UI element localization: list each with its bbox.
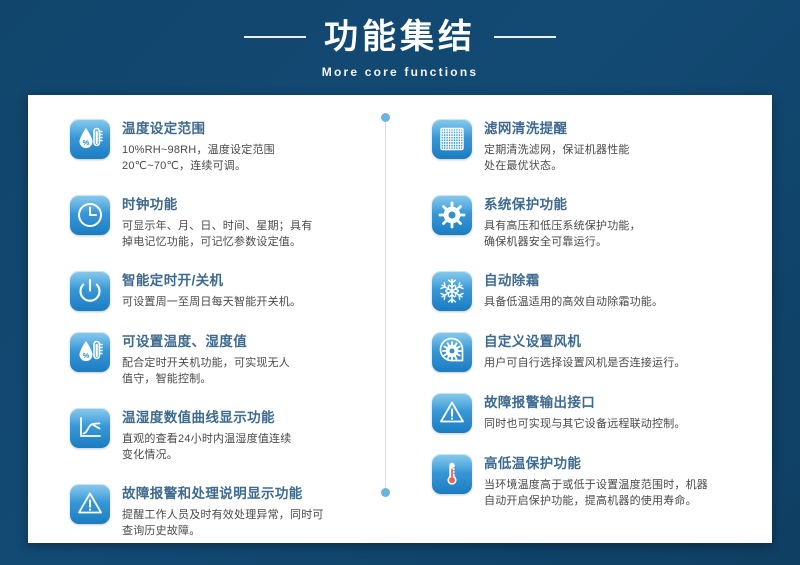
- page-header: 功能集结 More core functions: [0, 0, 800, 95]
- feature-description: 可设置周一至周日每天智能开关机。: [122, 294, 382, 310]
- feature-item: 自动除霜具备低温适用的高效自动除霜功能。: [432, 271, 760, 311]
- features-card: %温度设定范围10%RH~98RH，温度设定范围20℃~70℃，连续可调。时钟功…: [28, 95, 772, 543]
- feature-title: 故障报警和处理说明显示功能: [122, 485, 382, 503]
- feature-description: 当环境温度高于或低于设置温度范围时，机器自动开启保护功能，提高机器的使用寿命。: [484, 477, 760, 509]
- thermometer-icon: [432, 454, 472, 494]
- title-rule-right: [494, 36, 556, 38]
- gear-icon: [432, 195, 472, 235]
- title-rule-left: [244, 36, 306, 38]
- warning-triangle-icon: [70, 484, 110, 524]
- power-icon: [70, 271, 110, 311]
- feature-title: 高低温保护功能: [484, 455, 760, 473]
- feature-item: 温湿度数值曲线显示功能直观的查看24小时内温湿度值连续变化情况。: [70, 408, 382, 463]
- feature-item: %温度设定范围10%RH~98RH，温度设定范围20℃~70℃，连续可调。: [70, 119, 382, 174]
- curve-chart-icon: [70, 408, 110, 448]
- feature-title: 滤网清洗提醒: [484, 120, 760, 138]
- feature-text: 智能定时开/关机可设置周一至周日每天智能开关机。: [122, 271, 382, 310]
- page-title: 功能集结: [324, 17, 476, 57]
- filter-mesh-icon: [432, 119, 472, 159]
- feature-title: 自动除霜: [484, 272, 760, 290]
- promo-page: 功能集结 More core functions %温度设定范围10%RH~98…: [0, 0, 800, 565]
- feature-text: 故障报警输出接口同时也可实现与其它设备远程联动控制。: [484, 393, 760, 432]
- feature-title: 温度设定范围: [122, 120, 382, 138]
- feature-title: 故障报警输出接口: [484, 394, 760, 412]
- humidity-thermometer-icon: %: [70, 332, 110, 372]
- feature-description: 直观的查看24小时内温湿度值连续变化情况。: [122, 431, 382, 463]
- humidity-thermometer-icon: %: [70, 119, 110, 159]
- feature-text: 高低温保护功能当环境温度高于或低于设置温度范围时，机器自动开启保护功能，提高机器…: [484, 454, 760, 509]
- feature-title: 温湿度数值曲线显示功能: [122, 409, 382, 427]
- feature-text: 温度设定范围10%RH~98RH，温度设定范围20℃~70℃，连续可调。: [122, 119, 382, 174]
- feature-text: 故障报警和处理说明显示功能提醒工作人员及时有效处理异常，同时可查询历史故障。: [122, 484, 382, 539]
- title-row: 功能集结: [244, 17, 556, 57]
- feature-item: 故障报警输出接口同时也可实现与其它设备远程联动控制。: [432, 393, 760, 433]
- clock-icon: [70, 195, 110, 235]
- feature-description: 用户可自行选择设置风机是否连接运行。: [484, 355, 760, 371]
- blower-fan-icon: [432, 332, 472, 372]
- feature-description: 定期清洗滤网，保证机器性能处在最优状态。: [484, 142, 760, 174]
- svg-text:%: %: [83, 138, 90, 147]
- feature-item: 滤网清洗提醒定期清洗滤网，保证机器性能处在最优状态。: [432, 119, 760, 174]
- feature-text: 时钟功能可显示年、月、日、时间、星期；具有掉电记忆功能，可记忆参数设定值。: [122, 195, 382, 250]
- feature-description: 具备低温适用的高效自动除霜功能。: [484, 294, 760, 310]
- feature-item: 系统保护功能具有高压和低压系统保护功能，确保机器安全可靠运行。: [432, 195, 760, 250]
- feature-title: 可设置温度、湿度值: [122, 333, 382, 351]
- feature-title: 自定义设置风机: [484, 333, 760, 351]
- feature-item: %可设置温度、湿度值配合定时开关机功能，可实现无人值守，智能控制。: [70, 332, 382, 387]
- feature-text: 可设置温度、湿度值配合定时开关机功能，可实现无人值守，智能控制。: [122, 332, 382, 387]
- warning-triangle-icon: [432, 393, 472, 433]
- snowflake-icon: [432, 271, 472, 311]
- feature-description: 同时也可实现与其它设备远程联动控制。: [484, 416, 760, 432]
- feature-columns: %温度设定范围10%RH~98RH，温度设定范围20℃~70℃，连续可调。时钟功…: [28, 95, 772, 543]
- feature-description: 可显示年、月、日、时间、星期；具有掉电记忆功能，可记忆参数设定值。: [122, 218, 382, 250]
- feature-description: 具有高压和低压系统保护功能，确保机器安全可靠运行。: [484, 218, 760, 250]
- feature-item: 时钟功能可显示年、月、日、时间、星期；具有掉电记忆功能，可记忆参数设定值。: [70, 195, 382, 250]
- feature-title: 时钟功能: [122, 196, 382, 214]
- svg-text:%: %: [83, 351, 90, 360]
- page-subtitle: More core functions: [322, 65, 478, 79]
- feature-description: 提醒工作人员及时有效处理异常，同时可查询历史故障。: [122, 507, 382, 539]
- feature-description: 配合定时开关机功能，可实现无人值守，智能控制。: [122, 355, 382, 387]
- feature-text: 系统保护功能具有高压和低压系统保护功能，确保机器安全可靠运行。: [484, 195, 760, 250]
- feature-item: 智能定时开/关机可设置周一至周日每天智能开关机。: [70, 271, 382, 311]
- feature-text: 自动除霜具备低温适用的高效自动除霜功能。: [484, 271, 760, 310]
- feature-column-right: 滤网清洗提醒定期清洗滤网，保证机器性能处在最优状态。系统保护功能具有高压和低压系…: [400, 95, 772, 543]
- feature-item: 自定义设置风机用户可自行选择设置风机是否连接运行。: [432, 332, 760, 372]
- feature-description: 10%RH~98RH，温度设定范围20℃~70℃，连续可调。: [122, 142, 382, 174]
- feature-item: 故障报警和处理说明显示功能提醒工作人员及时有效处理异常，同时可查询历史故障。: [70, 484, 382, 539]
- feature-title: 系统保护功能: [484, 196, 760, 214]
- feature-text: 温湿度数值曲线显示功能直观的查看24小时内温湿度值连续变化情况。: [122, 408, 382, 463]
- feature-column-left: %温度设定范围10%RH~98RH，温度设定范围20℃~70℃，连续可调。时钟功…: [28, 95, 400, 543]
- feature-title: 智能定时开/关机: [122, 272, 382, 290]
- feature-item: 高低温保护功能当环境温度高于或低于设置温度范围时，机器自动开启保护功能，提高机器…: [432, 454, 760, 509]
- feature-text: 滤网清洗提醒定期清洗滤网，保证机器性能处在最优状态。: [484, 119, 760, 174]
- feature-text: 自定义设置风机用户可自行选择设置风机是否连接运行。: [484, 332, 760, 371]
